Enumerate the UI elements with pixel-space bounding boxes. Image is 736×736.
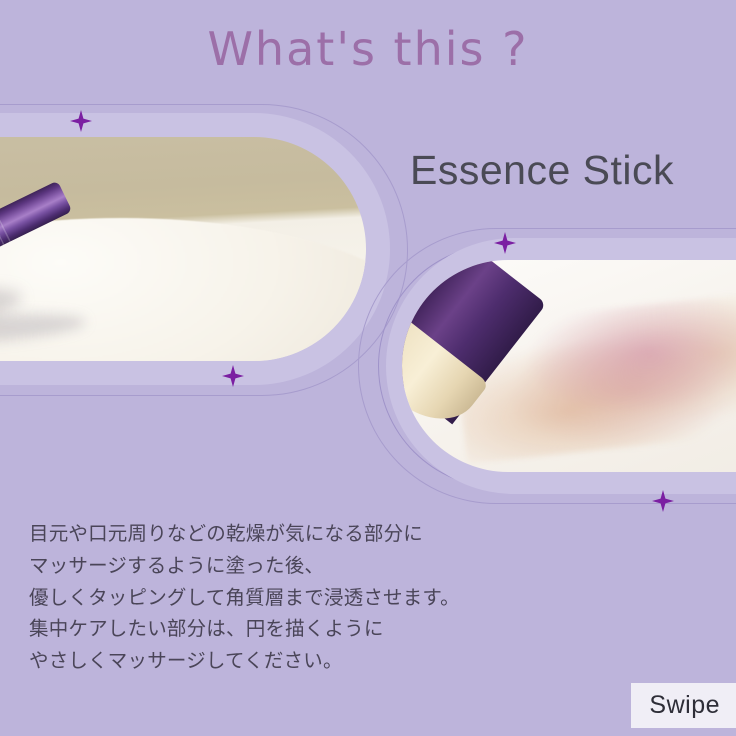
left-media-frame [0, 113, 390, 385]
product-name-heading: Essence Stick [410, 147, 674, 194]
page-title: What's this ? [0, 22, 736, 76]
product-photo-swatch [402, 260, 736, 472]
tabletop [0, 218, 366, 361]
product-photo-two-sticks [0, 137, 366, 361]
swipe-badge[interactable]: Swipe [631, 683, 736, 728]
stick-balm-well [402, 368, 404, 403]
promo-slide: What's this ? [0, 0, 736, 736]
usage-instructions-text: 目元や口元周りなどの乾燥が気になる部分に マッサージするように塗った後、 優しく… [29, 518, 499, 677]
photo-scene-table [0, 137, 366, 361]
photo-scene-swatch [402, 260, 736, 472]
right-media-frame [386, 238, 736, 494]
